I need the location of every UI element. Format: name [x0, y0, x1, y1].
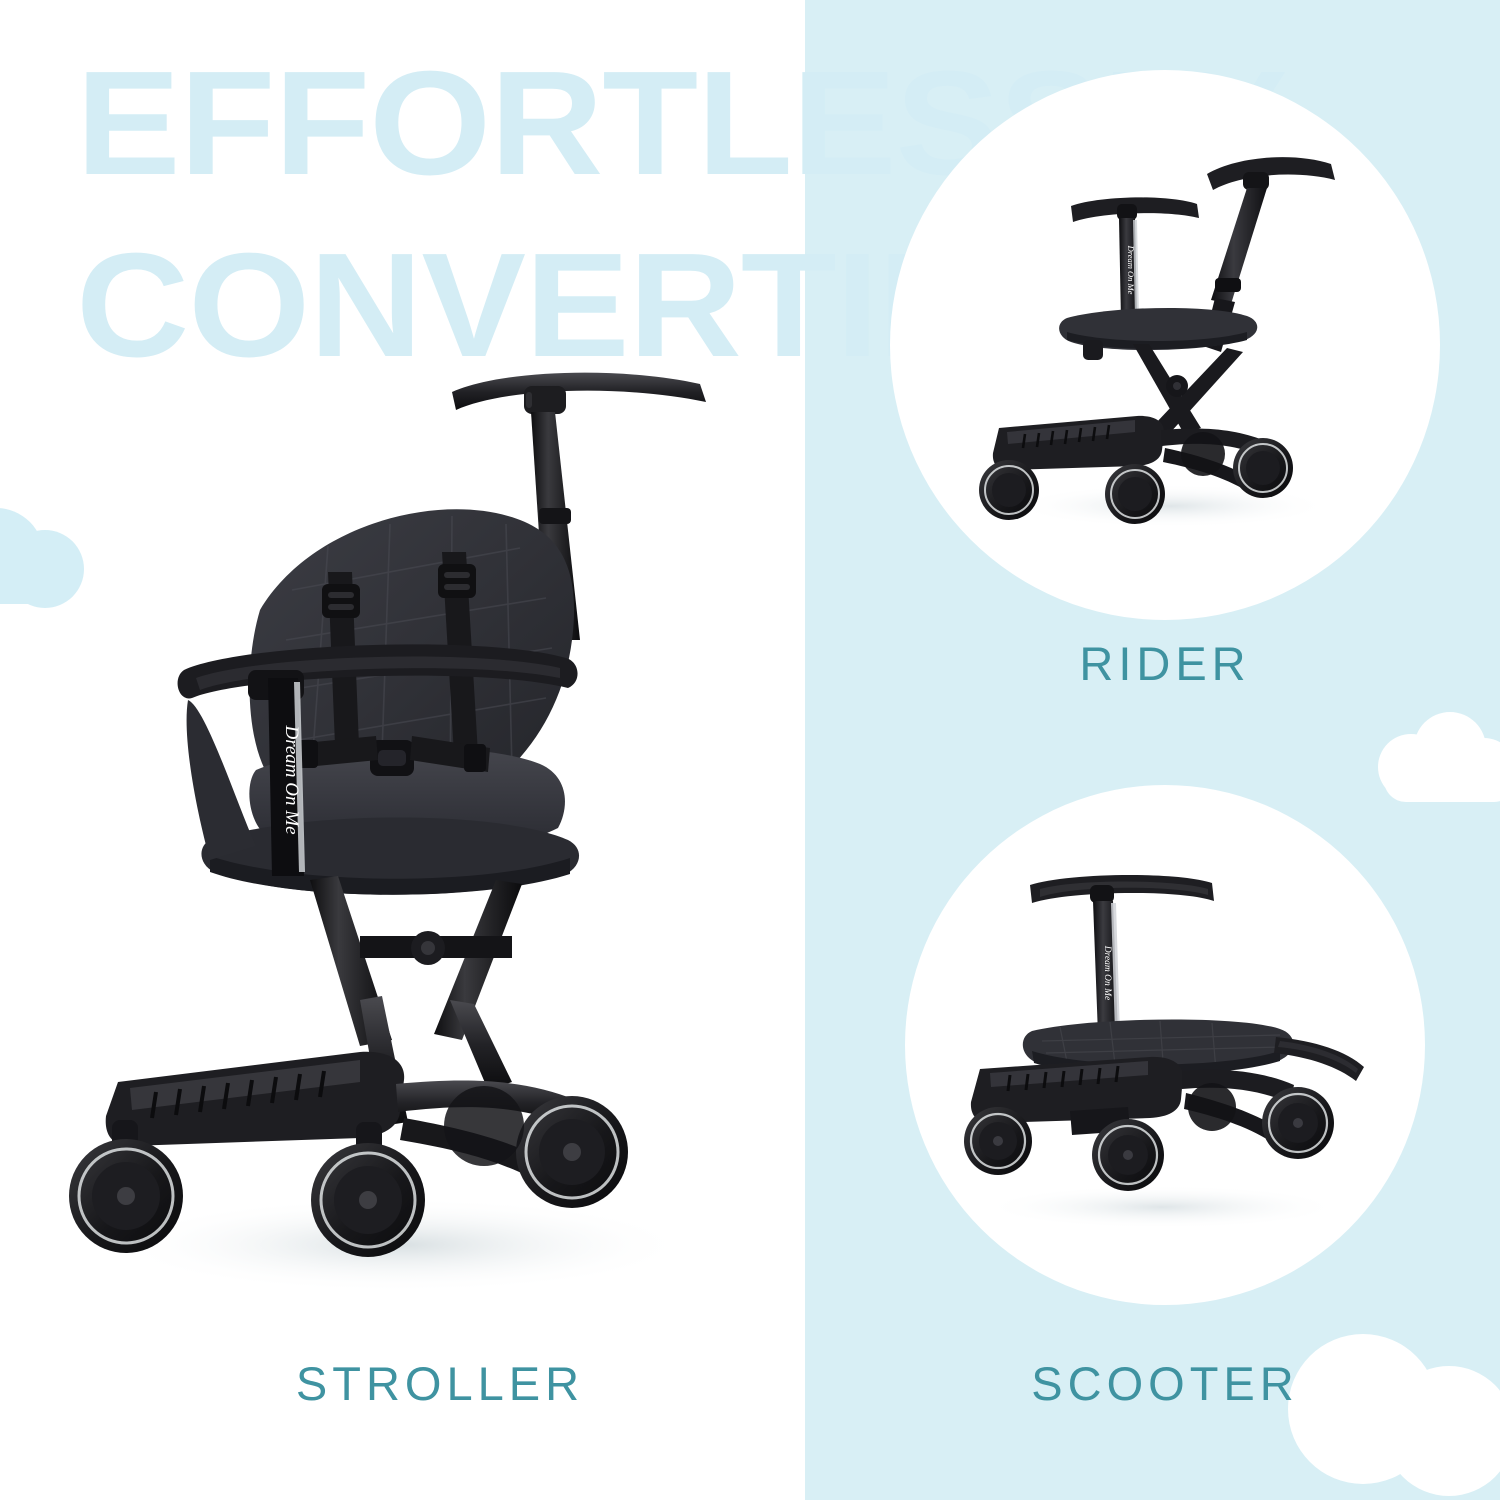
brand-logo-text: Dream On Me: [281, 724, 302, 834]
svg-text:Dream On Me: Dream On Me: [1102, 945, 1112, 1001]
stroller-caption: STROLLER: [195, 1356, 685, 1411]
rider-caption: RIDER: [965, 636, 1365, 691]
rider-product-photo: Dream On Me: [975, 128, 1365, 528]
marketing-image: EFFORTLESSLY CONVERTIBLE: [0, 0, 1500, 1500]
headline-line-1: EFFORTLESSLY: [76, 52, 860, 196]
scooter-product-photo: Dream On Me: [950, 855, 1380, 1235]
scooter-caption: SCOOTER: [955, 1356, 1375, 1411]
page-title: EFFORTLESSLY CONVERTIBLE: [76, 52, 860, 377]
stroller-product-photo: Dream On Me: [60, 340, 760, 1300]
svg-text:Dream On Me: Dream On Me: [1126, 245, 1136, 295]
